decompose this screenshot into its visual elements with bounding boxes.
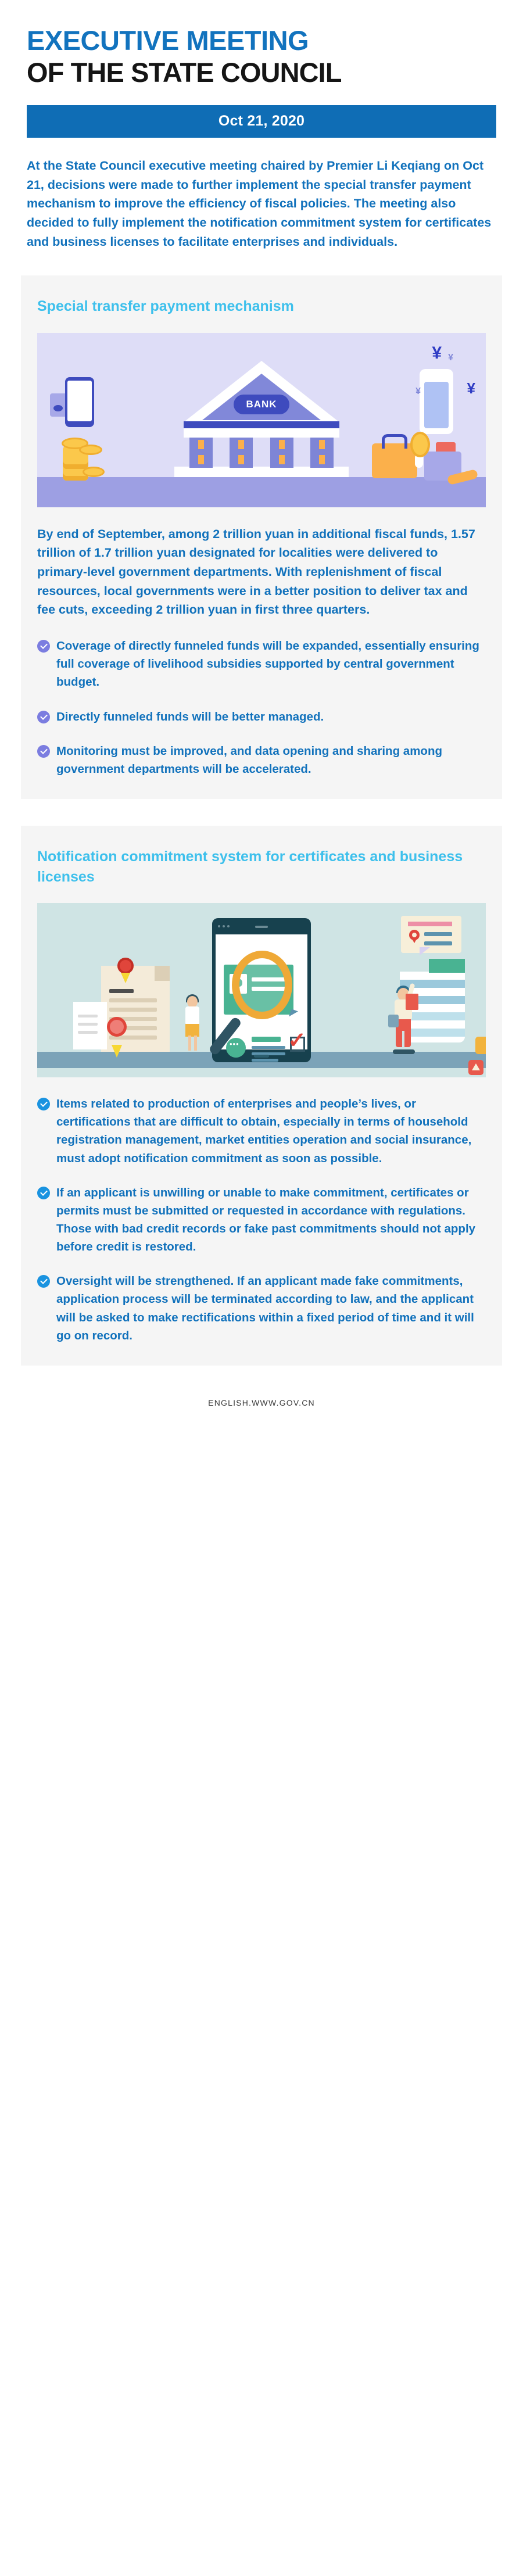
- list-item: Directly funneled funds will be better m…: [37, 708, 486, 726]
- section-2-bullet-list: Items related to production of enterpris…: [37, 1095, 486, 1345]
- content-line: [252, 1037, 281, 1042]
- paper-line: [78, 1015, 98, 1017]
- page-title-secondary: OF THE STATE COUNCIL: [27, 56, 496, 88]
- bank-lintel-light: [184, 428, 339, 438]
- shoes: [393, 1049, 415, 1054]
- list-item: Oversight will be strengthened. If an ap…: [37, 1272, 486, 1345]
- certificate-line: [109, 998, 157, 1002]
- bank-column: [189, 436, 213, 468]
- bank-sign-label: BANK: [246, 399, 277, 410]
- skirt: [185, 1024, 199, 1037]
- person-man-figure: [391, 984, 417, 1053]
- check-circle-icon: [37, 745, 50, 758]
- card-line: [424, 932, 452, 936]
- certificate-document: [101, 966, 170, 1052]
- section-special-transfer-payment: Special transfer payment mechanism BANK: [21, 275, 502, 799]
- bank-column: [310, 436, 334, 468]
- mobile-phone-icon: [65, 377, 94, 427]
- ground-strip: [37, 477, 486, 507]
- leg: [188, 1036, 191, 1051]
- bank-sign: BANK: [234, 395, 289, 414]
- check-circle-icon: [37, 640, 50, 653]
- coin: [79, 445, 102, 455]
- list-item-text: Monitoring must be improved, and data op…: [56, 742, 486, 778]
- head: [187, 996, 198, 1008]
- status-dots: [218, 925, 230, 927]
- coin-stack-group: [58, 435, 112, 481]
- paper-line: [78, 1023, 98, 1026]
- section-1-heading: Special transfer payment mechanism: [21, 296, 502, 317]
- red-warning-icon: [468, 1060, 483, 1075]
- location-info-card: [401, 916, 461, 953]
- page-title-primary: EXECUTIVE MEETING: [27, 24, 496, 56]
- page-fold: [155, 966, 170, 981]
- check-circle-icon: [37, 711, 50, 723]
- bank-finance-illustration: BANK ¥ ¥ ¥ ¥: [37, 333, 486, 507]
- chat-bubble-icon: [226, 1038, 246, 1058]
- date-banner: Oct 21, 2020: [27, 105, 496, 138]
- leg: [194, 1036, 197, 1051]
- page-header: EXECUTIVE MEETING OF THE STATE COUNCIL: [0, 0, 523, 89]
- bag: [388, 1015, 399, 1027]
- list-item: Monitoring must be improved, and data op…: [37, 742, 486, 778]
- list-item: Items related to production of enterpris…: [37, 1095, 486, 1167]
- section-2-heading: Notification commitment system for certi…: [21, 847, 502, 887]
- speech-bubble-tail: [420, 947, 430, 955]
- bank-column: [270, 436, 293, 468]
- bank-steps: [174, 467, 349, 477]
- red-seal-icon: [107, 1017, 127, 1037]
- check-circle-icon: [37, 1187, 50, 1199]
- atm-machine-icon: [420, 369, 453, 434]
- content-line: [252, 1046, 285, 1049]
- tablet-screen: ✓: [216, 934, 307, 1049]
- speaker-grill: [255, 926, 268, 928]
- coin: [83, 467, 105, 477]
- green-accent-block: [429, 959, 465, 973]
- torso: [185, 1006, 199, 1025]
- gold-coin: [410, 432, 430, 457]
- infographic-page: EXECUTIVE MEETING OF THE STATE COUNCIL O…: [0, 0, 523, 2576]
- paper-line: [78, 1031, 98, 1034]
- list-item-text: Coverage of directly funneled funds will…: [56, 637, 486, 691]
- date-label: Oct 21, 2020: [218, 113, 305, 130]
- bank-column: [230, 436, 253, 468]
- list-item: Coverage of directly funneled funds will…: [37, 637, 486, 691]
- page-footer: ENGLISH.WWW.GOV.CN: [0, 1398, 523, 1428]
- list-item: If an applicant is unwilling or unable t…: [37, 1184, 486, 1256]
- list-item-text: Oversight will be strengthened. If an ap…: [56, 1272, 486, 1345]
- list-item-text: Items related to production of enterpris…: [56, 1095, 486, 1167]
- home-button: [254, 1055, 269, 1058]
- check-circle-icon: [37, 1275, 50, 1288]
- source-url-label: ENGLISH.WWW.GOV.CN: [208, 1398, 315, 1407]
- red-seal-icon: [117, 958, 134, 974]
- card-header-bar: [408, 922, 452, 926]
- held-card: [406, 994, 418, 1010]
- check-mark-icon: ✓: [288, 1030, 306, 1052]
- person-woman-figure: [182, 996, 202, 1052]
- seal-ribbon: [112, 1045, 122, 1058]
- white-paper-document: [73, 1002, 107, 1049]
- yellow-badge-icon: [475, 1037, 486, 1054]
- section-1-paragraph: By end of September, among 2 trillion yu…: [37, 525, 486, 619]
- certificate-line: [109, 1008, 157, 1012]
- list-item-text: If an applicant is unwilling or unable t…: [56, 1184, 486, 1256]
- card-line: [424, 941, 452, 945]
- certificate-verification-illustration: ✓: [37, 903, 486, 1077]
- yen-symbol-tiny: ¥: [415, 386, 421, 397]
- list-item-text: Directly funneled funds will be better m…: [56, 708, 324, 726]
- section-1-bullet-list: Coverage of directly funneled funds will…: [37, 637, 486, 778]
- content-line: [252, 1059, 278, 1062]
- check-circle-icon: [37, 1098, 50, 1110]
- intro-paragraph: At the State Council executive meeting c…: [27, 156, 496, 251]
- section-notification-commitment: Notification commitment system for certi…: [21, 826, 502, 1366]
- tablet-device: ✓: [212, 918, 311, 1062]
- bank-lintel-dark: [184, 421, 339, 428]
- yen-symbol-large: ¥: [432, 343, 442, 363]
- certificate-title-line: [109, 989, 134, 993]
- magnifying-glass-icon: [232, 951, 292, 1019]
- location-pin-tip: [411, 938, 417, 943]
- seal-ribbon: [121, 973, 130, 983]
- yen-symbol-medium: ¥: [467, 379, 475, 397]
- yen-symbol-small: ¥: [448, 353, 453, 363]
- bank-columns: [189, 436, 334, 468]
